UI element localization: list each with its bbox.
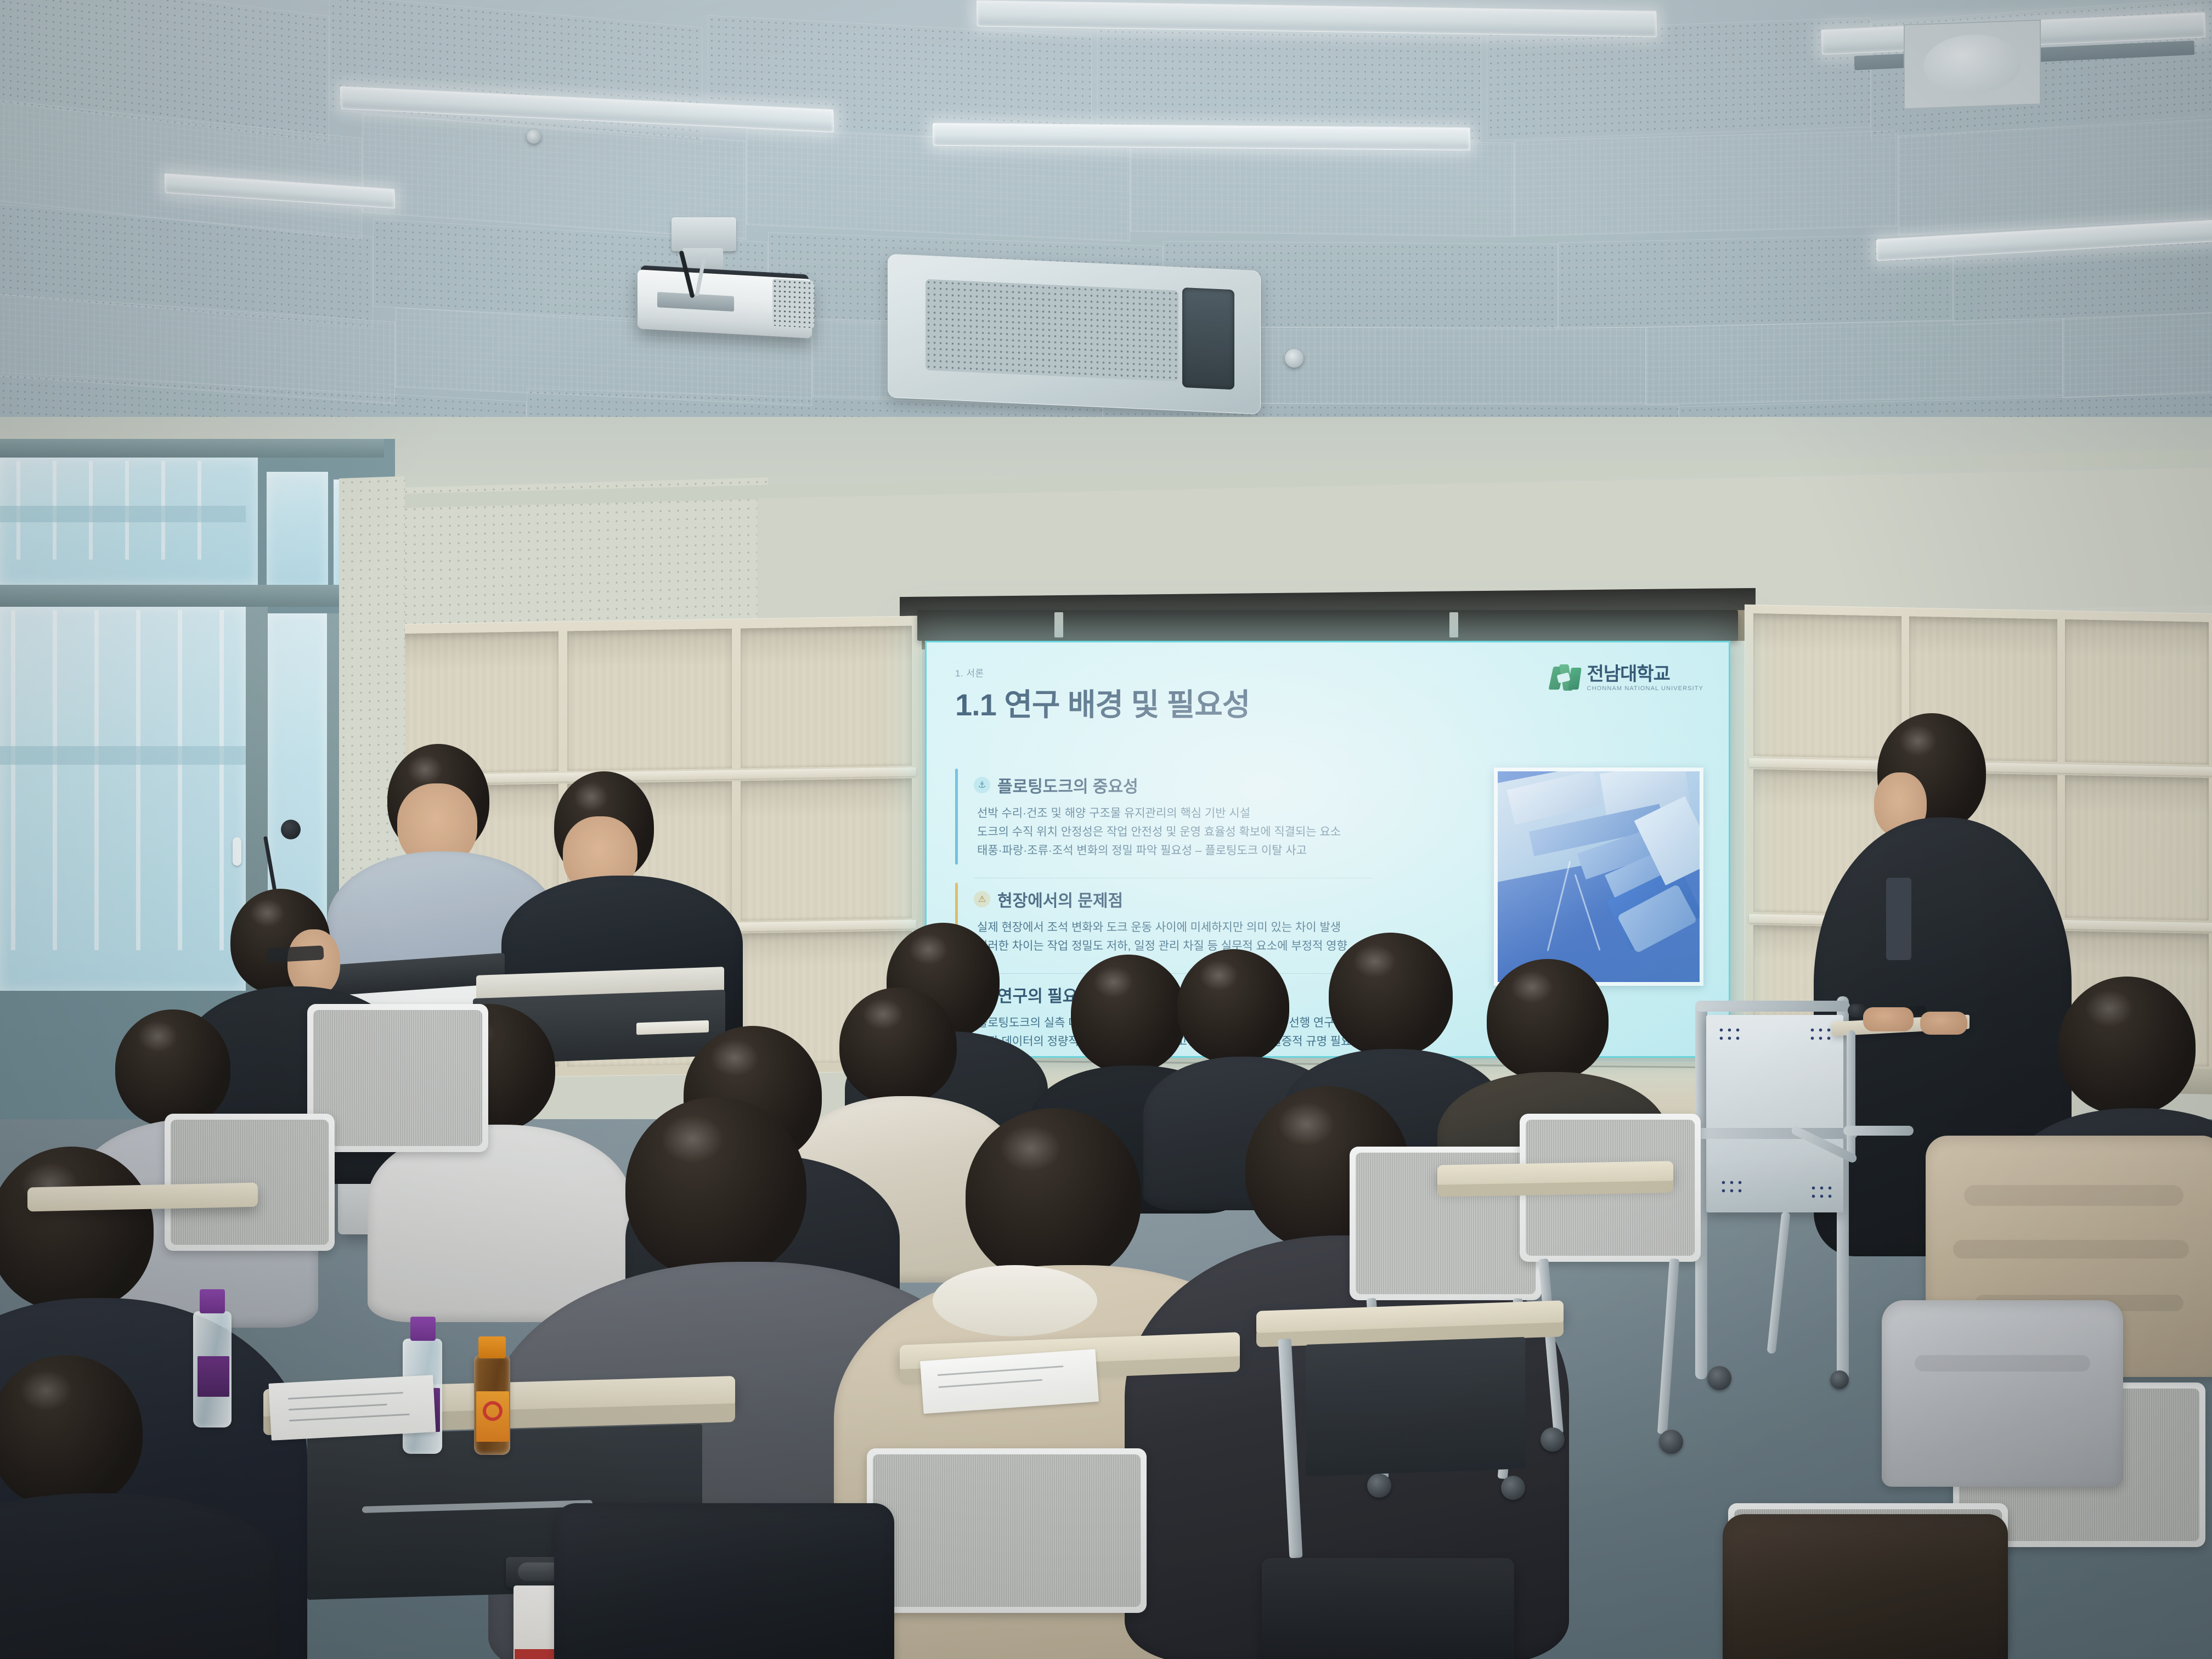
aerial-dock-photo xyxy=(1498,771,1700,982)
seminar-room-photo: 1. 서론 1.1 연구 배경 및 필요성 전남대학교 CHONNAM NATI… xyxy=(0,0,2212,1659)
backpack xyxy=(1262,1558,1514,1659)
air-conditioner-unit xyxy=(888,254,1261,415)
bottle-cap xyxy=(200,1289,225,1313)
section-line: 태풍·파랑·조류·조석 변화의 정밀 파악 필요성 – 플로팅도크 이탈 사고 xyxy=(974,842,1372,860)
ceiling-light xyxy=(933,123,1471,151)
university-name-english: CHONNAM NATIONAL UNIVERSITY xyxy=(1587,685,1703,692)
water-bottle[interactable] xyxy=(189,1289,236,1426)
bottle-cap xyxy=(410,1317,436,1341)
presenter-hand xyxy=(1920,1012,1967,1035)
slide-section: ⚓ 플로팅도크의 중요성 선박 수리·건조 및 해양 구조물 유지관리의 핵심 … xyxy=(955,764,1372,869)
desk xyxy=(27,1183,258,1212)
ship-icon: ⚓ xyxy=(974,777,990,793)
presenter-hand xyxy=(1863,1007,1914,1031)
eyeglasses xyxy=(266,945,324,962)
section-title: 플로팅도크의 중요성 xyxy=(997,773,1138,797)
ceiling-vent xyxy=(1904,20,2041,110)
gooseneck-mic-head xyxy=(281,820,301,839)
university-name-korean: 전남대학교 xyxy=(1587,665,1703,684)
handout-papers[interactable] xyxy=(268,1375,436,1441)
energy-drink-bottle[interactable] xyxy=(471,1336,515,1455)
warning-triangle-icon: ⚠ xyxy=(974,891,990,907)
ceiling-light xyxy=(977,0,1657,37)
window-handle[interactable] xyxy=(233,837,241,866)
section-title: 현장에서의 문제점 xyxy=(997,887,1123,911)
university-logo: 전남대학교 CHONNAM NATIONAL UNIVERSITY xyxy=(1551,664,1703,692)
bottle-label xyxy=(198,1356,229,1397)
section-line: 도크의 수직 위치 안정성은 작업 안전성 및 운영 효율성 확보에 직결되는 … xyxy=(974,823,1372,842)
projection-screen-housing xyxy=(917,610,1738,641)
chair[interactable] xyxy=(867,1448,1152,1659)
lectern-caster xyxy=(1830,1370,1849,1389)
slide-photo xyxy=(1494,768,1703,986)
bottle-cap xyxy=(478,1336,506,1358)
fleece-collar xyxy=(933,1265,1097,1336)
ceiling-projector xyxy=(637,246,819,339)
section-line: 선박 수리·건조 및 해양 구조물 유지관리의 핵심 기반 시설 xyxy=(974,804,1372,823)
window-transom xyxy=(267,472,328,590)
university-logo-mark xyxy=(1551,664,1581,692)
lectern-caster xyxy=(1707,1366,1731,1390)
grey-puffer-jacket xyxy=(1882,1300,2123,1487)
sprinkler-head xyxy=(527,129,541,144)
brand-mark xyxy=(483,1401,503,1421)
sprinkler-head xyxy=(1285,349,1304,368)
dark-coat xyxy=(1723,1514,2008,1659)
dark-coat xyxy=(554,1503,894,1659)
